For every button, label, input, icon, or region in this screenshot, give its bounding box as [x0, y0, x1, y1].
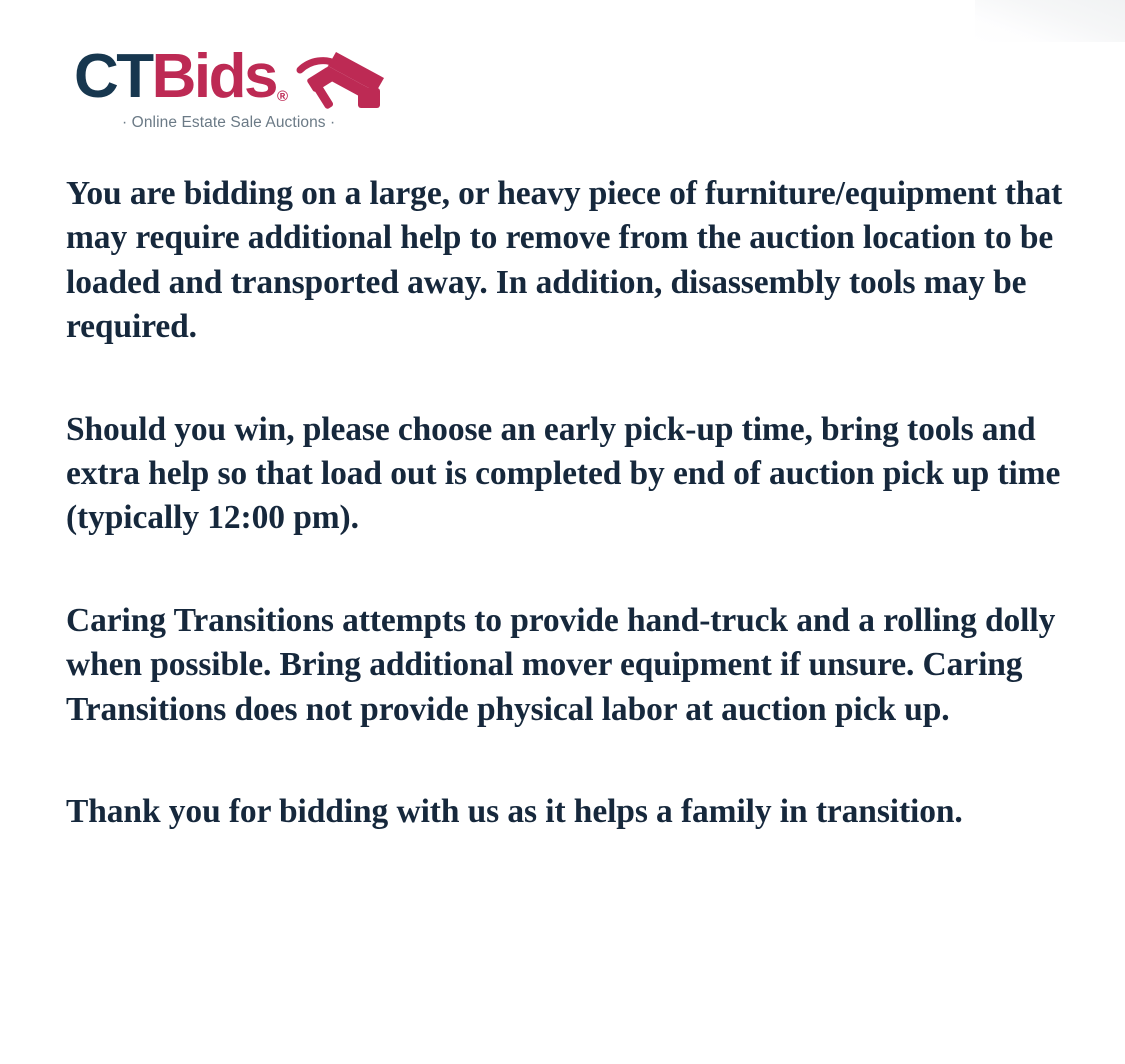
scan-artifact — [975, 0, 1125, 42]
logo-text-ct: CT — [74, 46, 152, 108]
document-page: CT Bids ® · Online Estat — [0, 0, 1125, 1064]
ctbids-logo: CT Bids ® · Online Estat — [74, 46, 414, 132]
paragraph-equipment-policy: Caring Transitions attempts to provide h… — [66, 599, 1078, 732]
paragraph-pickup-instructions: Should you win, please choose an early p… — [66, 408, 1078, 541]
paragraph-thank-you: Thank you for bidding with us as it help… — [66, 790, 1078, 834]
notice-body: You are bidding on a large, or heavy pie… — [66, 172, 1078, 834]
registered-trademark-icon: ® — [277, 89, 288, 104]
logo-wordmark: CT Bids ® — [74, 46, 414, 108]
logo-tagline: · Online Estate Sale Auctions · — [122, 114, 414, 132]
paragraph-bidding-notice: You are bidding on a large, or heavy pie… — [66, 172, 1078, 350]
logo-text-bids: Bids — [152, 46, 276, 108]
gavel-roof-icon — [292, 48, 388, 114]
